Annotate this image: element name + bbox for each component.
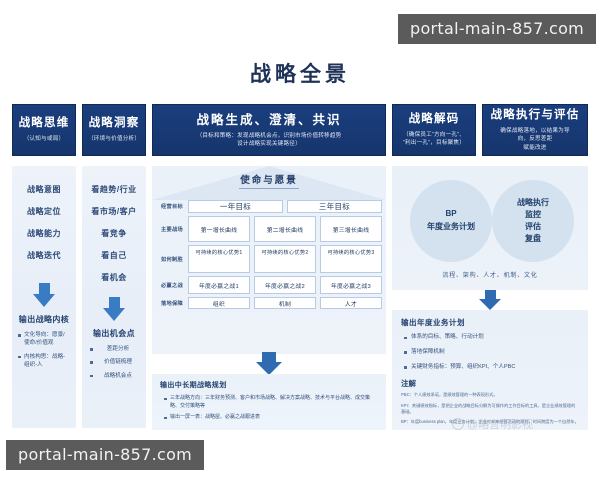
row-cells: 年度必赢之战1 年度必赢之战2 年度必赢之战3: [188, 276, 382, 294]
output-title: 输出机会点: [82, 328, 146, 339]
matrix-cell[interactable]: 机制: [254, 297, 316, 309]
watermark-top: portal-main-857.com: [398, 14, 596, 44]
matrix-row: 如何制胜 可持续的核心优势1 可持续的核心优势2 可持续的核心优势3: [156, 245, 382, 273]
list-item: 关键财务指标：预算、组织KPI、个人PBC: [411, 364, 579, 372]
output-list: 三年战略方向：三年财务预测、客户和市场战略、解决方案战略、技术与平台战略、成交策…: [170, 395, 378, 422]
circle-bp[interactable]: BP 年度业务计划: [410, 180, 492, 262]
center-strategy-house: 使命与愿景 经营目标 一年目标 三年目标 主要战场 第一增长曲线 第二增长曲线 …: [152, 166, 386, 354]
mission-vision-title: 使命与愿景: [152, 172, 386, 186]
keyword-item: 看趋势/行业: [91, 184, 136, 195]
list-item: 内核构思：战略-组织-人: [24, 353, 70, 370]
keyword-item: 战略定位: [27, 206, 61, 217]
output-list: 文化导向：愿景/使命/价值观 内核构思：战略-组织-人: [24, 331, 70, 370]
strategy-matrix: 经营目标 一年目标 三年目标 主要战场 第一增长曲线 第二增长曲线 第三增长曲线…: [156, 200, 382, 312]
list-item: 输出一屏一表：战略屋、必赢之战跟进表: [170, 414, 378, 422]
matrix-cell[interactable]: 人才: [320, 297, 382, 309]
header-subtitle: （确保员工“方向一孔”、 “利出一孔”，目标聚焦）: [403, 131, 465, 147]
keyword-item: 看市场/客户: [91, 206, 136, 217]
watermark-weibo: @略言明影视: [452, 416, 533, 432]
output-title: 输出年度业务计划: [401, 317, 579, 328]
right-output-block: 输出年度业务计划 体系的目标、策略、行动计划 落地保障机制 关键财务指标：预算、…: [392, 310, 588, 430]
header-box-strategic-thinking[interactable]: 战略思维 （认知与或局）: [12, 104, 76, 156]
header-subtitle: （目标和策略：发现战略机会点，识别市场价值转移趋势 设计战略实现关键路径）: [197, 132, 342, 148]
column-strategic-insight: 看趋势/行业 看市场/客户 看竞争 看自己 看机会 输出机会点 差距分析 价值链…: [82, 166, 146, 428]
row-cells: 可持续的核心优势1 可持续的核心优势2 可持续的核心优势3: [188, 245, 382, 273]
keyword-list: 看趋势/行业 看市场/客户 看竞争 看自己 看机会: [82, 184, 146, 283]
row-cells: 组织 机制 人才: [188, 297, 382, 309]
row-label: 如何制胜: [156, 245, 188, 273]
matrix-cell[interactable]: 第一增长曲线: [188, 216, 250, 242]
note-item: KPI：关键绩效指标，是把企业的战略目标分解为可操作的工作目标的工具，是企业绩效…: [401, 403, 579, 415]
right-execution-panel: BP 年度业务计划 战略执行 监控 评估 复盘 流程、架构、人才、机制、文化: [392, 166, 588, 290]
list-item: 战略机会点: [96, 372, 140, 380]
matrix-cell[interactable]: 可持续的核心优势3: [320, 245, 382, 273]
header-subtitle: （环境与价值分析）: [88, 135, 140, 143]
center-down-arrow: [152, 352, 386, 375]
enablers-footer: 流程、架构、人才、机制、文化: [392, 270, 588, 279]
header-title: 战略执行与评估: [491, 108, 580, 123]
output-list: 体系的目标、策略、行动计划 落地保障机制 关键财务指标：预算、组织KPI、个人P…: [411, 334, 579, 371]
arrow-stem: [39, 283, 50, 294]
keyword-item: 看自己: [101, 250, 127, 261]
notes-title: 注解: [401, 378, 579, 389]
header-title: 战略解码: [409, 112, 460, 127]
keyword-item: 看竞争: [101, 228, 127, 239]
arrow-stem: [485, 290, 496, 299]
header-subtitle: 确保战略落地，以结果为导 向，反思差距 赋能改进: [500, 127, 570, 151]
matrix-cell[interactable]: 年度必赢之战1: [188, 276, 250, 294]
row-cells: 第一增长曲线 第二增长曲线 第三增长曲线: [188, 216, 382, 242]
list-item: 落地保障机制: [411, 349, 579, 357]
down-arrow: [82, 297, 146, 321]
matrix-cell[interactable]: 第二增长曲线: [254, 216, 316, 242]
matrix-cell[interactable]: 年度必赢之战2: [254, 276, 316, 294]
matrix-cell[interactable]: 可持续的核心优势2: [254, 245, 316, 273]
header-box-strategic-insight[interactable]: 战略洞察 （环境与价值分析）: [82, 104, 146, 156]
circle-execution-monitoring[interactable]: 战略执行 监控 评估 复盘: [492, 180, 574, 262]
slide-canvas: 战略全景 战略思维 （认知与或局） 战略洞察 （环境与价值分析） 战略生成、澄清…: [0, 0, 600, 480]
list-item: 文化导向：愿景/使命/价值观: [24, 331, 70, 348]
header-title: 战略思维: [19, 116, 70, 131]
matrix-cell[interactable]: 一年目标: [188, 200, 283, 213]
matrix-cell[interactable]: 第三增长曲线: [320, 216, 382, 242]
matrix-row: 主要战场 第一增长曲线 第二增长曲线 第三增长曲线: [156, 216, 382, 242]
header-title: 战略生成、澄清、共识: [196, 112, 341, 128]
row-cells: 一年目标 三年目标: [188, 200, 382, 213]
arrow-head: [33, 294, 55, 307]
output-title: 输出中长期战略规划: [160, 380, 378, 390]
row-label: 经营目标: [156, 200, 188, 213]
page-title: 战略全景: [0, 58, 600, 88]
header-box-strategy-decoding[interactable]: 战略解码 （确保员工“方向一孔”、 “利出一孔”，目标聚焦）: [392, 104, 476, 156]
header-subtitle: （认知与或局）: [24, 135, 65, 143]
column-strategic-thinking: 战略意图 战略定位 战略能力 战略迭代 输出战略内核 文化导向：愿景/使命/价值…: [12, 166, 76, 428]
row-label: 主要战场: [156, 216, 188, 242]
title-underline: [239, 188, 299, 189]
list-item: 三年战略方向：三年财务预测、客户和市场战略、解决方案战略、技术与平台战略、成交策…: [170, 395, 378, 410]
watermark-weibo-label: @略言明影视: [467, 416, 533, 432]
row-label: 必赢之战: [156, 276, 188, 294]
center-output-block: 输出中长期战略规划 三年战略方向：三年财务预测、客户和市场战略、解决方案战略、技…: [152, 374, 386, 430]
keyword-item: 战略意图: [27, 184, 61, 195]
keyword-item: 战略能力: [27, 228, 61, 239]
matrix-cell[interactable]: 可持续的核心优势1: [188, 245, 250, 273]
matrix-row: 必赢之战 年度必赢之战1 年度必赢之战2 年度必赢之战3: [156, 276, 382, 294]
arrow-stem: [109, 297, 120, 308]
matrix-row: 落地保障 组织 机制 人才: [156, 297, 382, 309]
matrix-row: 经营目标 一年目标 三年目标: [156, 200, 382, 213]
list-item: 体系的目标、策略、行动计划: [411, 334, 579, 342]
arrow-stem: [262, 352, 276, 362]
list-item: 价值链梳理: [96, 358, 140, 366]
right-down-arrow: [392, 290, 588, 310]
note-item: PBC：个人绩效承诺，是绩效管理的一种表现形式。: [401, 392, 579, 398]
output-title: 输出战略内核: [12, 314, 76, 325]
matrix-cell[interactable]: 组织: [188, 297, 250, 309]
watermark-bottom: portal-main-857.com: [6, 440, 204, 470]
keyword-item: 看机会: [101, 272, 127, 283]
header-title: 战略洞察: [89, 116, 140, 131]
keyword-item: 战略迭代: [27, 250, 61, 261]
keyword-list: 战略意图 战略定位 战略能力 战略迭代: [12, 184, 76, 261]
header-box-strategy-generation[interactable]: 战略生成、澄清、共识 （目标和策略：发现战略机会点，识别市场价值转移趋势 设计战…: [152, 104, 386, 156]
output-list: 差距分析 价值链梳理 战略机会点: [94, 345, 140, 380]
down-arrow: [12, 283, 76, 307]
arrow-head: [103, 308, 125, 321]
matrix-cell[interactable]: 三年目标: [287, 200, 382, 213]
header-box-strategy-execution[interactable]: 战略执行与评估 确保战略落地，以结果为导 向，反思差距 赋能改进: [482, 104, 588, 156]
row-label: 落地保障: [156, 297, 188, 309]
list-item: 差距分析: [96, 345, 140, 353]
matrix-cell[interactable]: 年度必赢之战3: [320, 276, 382, 294]
arrow-head: [479, 299, 501, 310]
weibo-logo-icon: [452, 418, 464, 430]
